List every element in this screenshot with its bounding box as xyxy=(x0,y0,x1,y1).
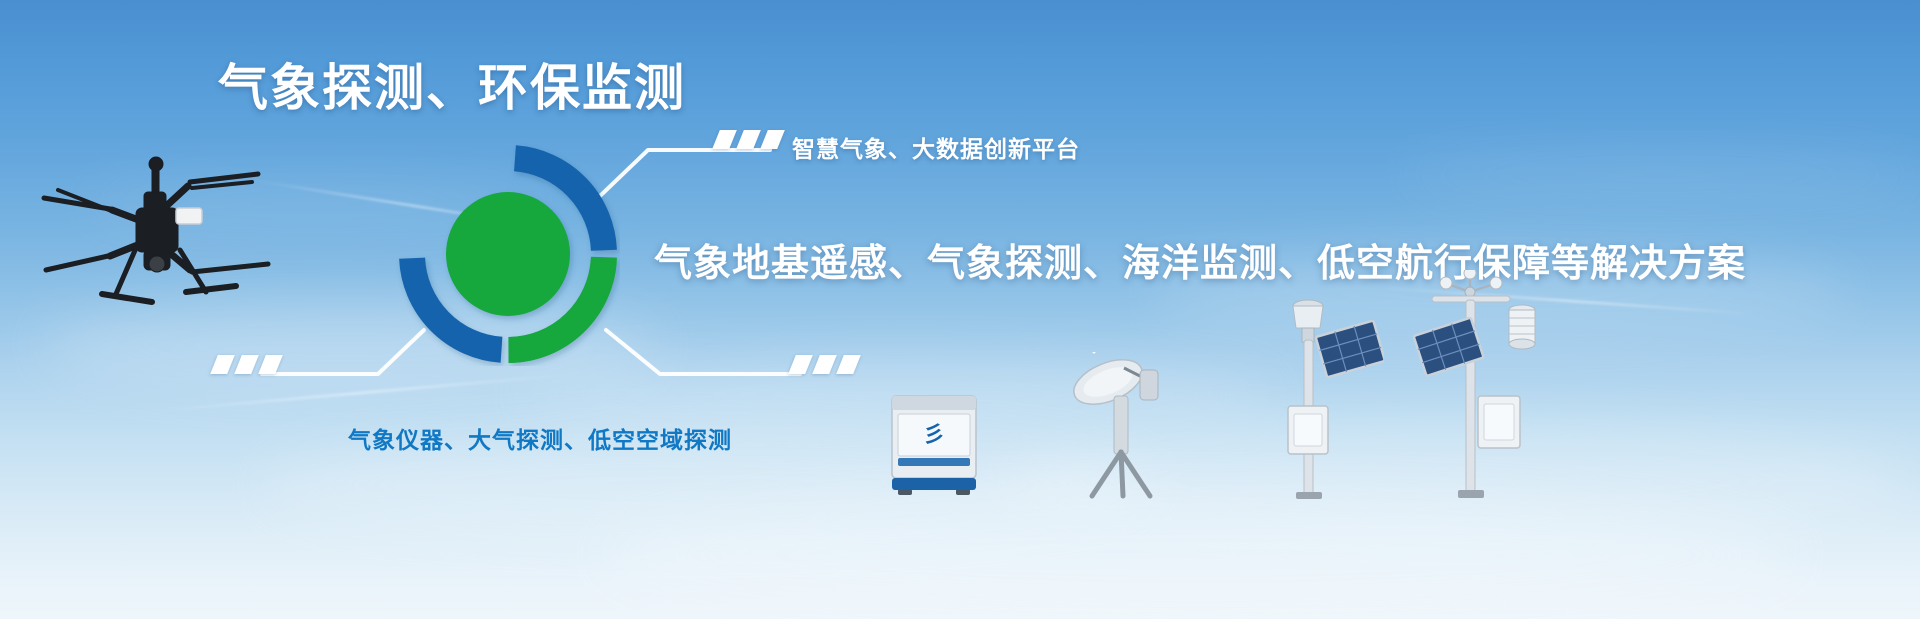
slash-mark xyxy=(712,130,737,149)
slash-mark xyxy=(210,355,235,374)
slash-mark xyxy=(760,130,785,149)
banner-root: 气象探测、环保监测 智慧气象、大数据创新平台 气象地基遥感、气象探测、海洋监测、… xyxy=(0,0,1920,619)
cloud-wisp xyxy=(1400,150,1920,200)
slash-mark xyxy=(258,355,283,374)
weather-station-solar-1 xyxy=(1276,294,1384,500)
ground-instrument-box: 彡 xyxy=(886,384,982,496)
slash-mark xyxy=(788,355,813,374)
cloud-wisp xyxy=(600,490,1800,619)
slash-marks-bottom-left xyxy=(214,355,279,374)
svg-text:彡: 彡 xyxy=(923,423,945,448)
donut-ring-logo xyxy=(396,142,620,366)
slash-mark xyxy=(234,355,259,374)
slash-marks-bottom-right xyxy=(792,355,857,374)
page-title: 气象探测、环保监测 xyxy=(218,48,686,120)
slash-mark xyxy=(812,355,837,374)
slash-mark xyxy=(736,130,761,149)
slash-marks-top xyxy=(716,130,781,149)
callout-label-bottom: 气象仪器、大气探测、低空空域探测 xyxy=(348,421,732,455)
radar-dish xyxy=(1066,352,1178,500)
contrail-streak xyxy=(151,374,570,413)
main-description-text: 气象地基遥感、气象探测、海洋监测、低空航行保障等解决方案 xyxy=(654,232,1746,287)
callout-label-top: 智慧气象、大数据创新平台 xyxy=(792,130,1080,164)
weather-station-solar-2 xyxy=(1412,270,1544,500)
drone xyxy=(40,152,290,327)
ring-core-green xyxy=(446,192,570,316)
slash-mark xyxy=(836,355,861,374)
